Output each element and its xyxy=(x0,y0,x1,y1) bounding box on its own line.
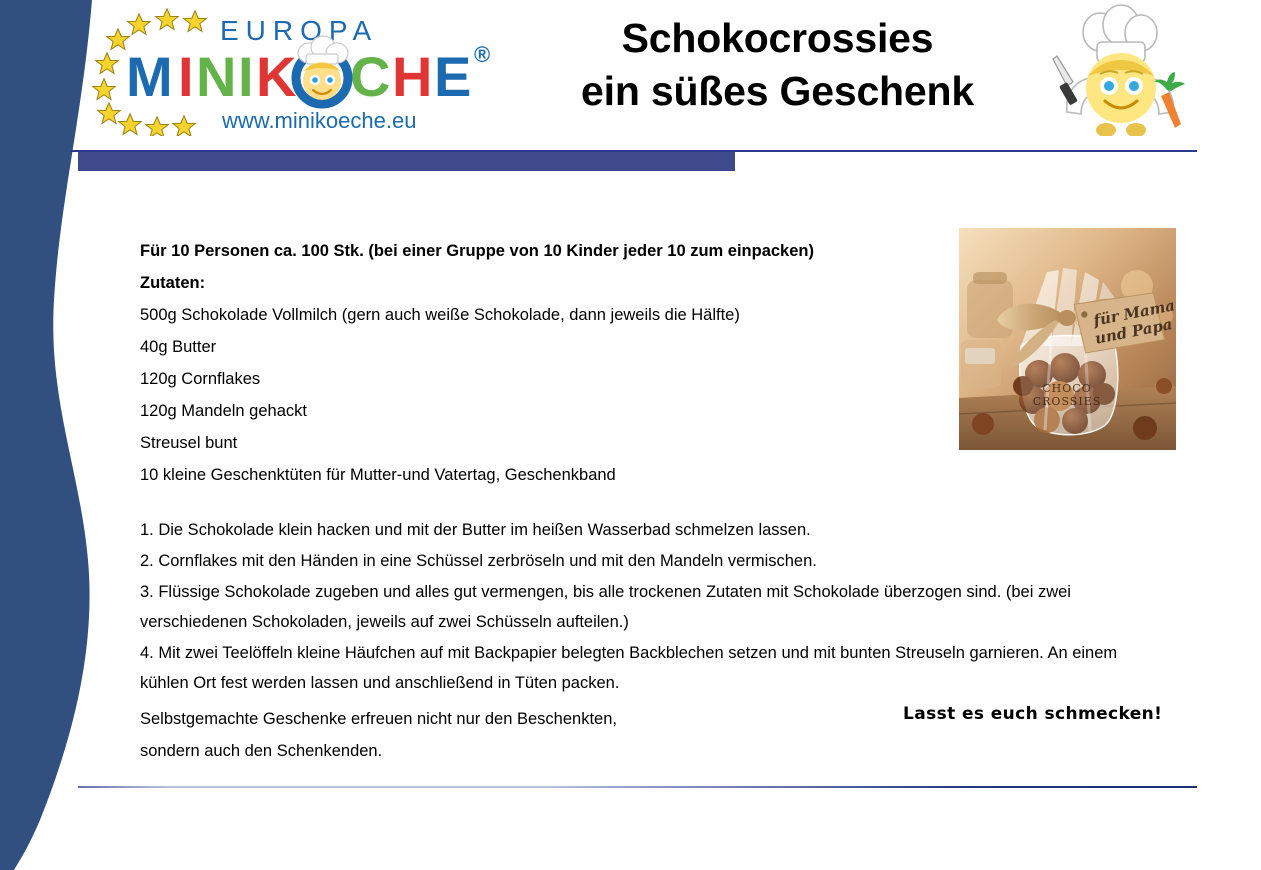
product-label-line1: CHOCO xyxy=(1042,382,1091,395)
product-label-line2: CROSSIES xyxy=(1033,395,1102,408)
logo-registered-mark: ® xyxy=(474,42,490,67)
ingredient-item: 40g Butter xyxy=(140,331,950,363)
chef-mascot-with-knife-and-carrot xyxy=(1043,4,1198,136)
ingredient-item: 500g Schokolade Vollmilch (gern auch wei… xyxy=(140,299,950,331)
svg-text:I: I xyxy=(238,45,254,108)
europa-minikoeche-logo: EUROPA M I N I K C H E xyxy=(82,8,502,136)
header-accent-bar xyxy=(78,152,735,171)
ingredients-heading: Zutaten: xyxy=(140,267,950,299)
svg-text:E: E xyxy=(434,45,471,108)
servings-note: Für 10 Personen ca. 100 Stk. (bei einer … xyxy=(140,235,950,267)
svg-text:I: I xyxy=(178,45,194,108)
recipe-page: EUROPA M I N I K C H E xyxy=(0,0,1261,870)
logo-url-text: www.minikoeche.eu xyxy=(221,108,416,133)
svg-text:H: H xyxy=(392,45,432,108)
ingredient-item: 120g Mandeln gehackt xyxy=(140,395,950,427)
page-title: Schokocrossies ein süßes Geschenk xyxy=(505,12,1050,119)
step-item: 2. Cornflakes mit den Händen in eine Sch… xyxy=(140,546,1150,576)
closing-line2: sondern auch den Schenkenden. xyxy=(140,735,760,767)
page-title-line2: ein süßes Geschenk xyxy=(505,65,1050,118)
step-item: 1. Die Schokolade klein hacken und mit d… xyxy=(140,515,1150,545)
logo-o-chef-face xyxy=(296,36,348,104)
closing-note: Selbstgemachte Geschenke erfreuen nicht … xyxy=(140,703,760,767)
svg-text:C: C xyxy=(350,45,390,108)
step-item: 4. Mit zwei Teelöffeln kleine Häufchen a… xyxy=(140,638,1150,698)
svg-text:K: K xyxy=(256,45,296,108)
svg-text:M: M xyxy=(126,45,173,108)
svg-text:N: N xyxy=(196,45,236,108)
ingredient-item: Streusel bunt xyxy=(140,427,950,459)
footer-divider-rule xyxy=(78,786,1197,788)
ingredient-item: 120g Cornflakes xyxy=(140,363,950,395)
preparation-steps: 1. Die Schokolade klein hacken und mit d… xyxy=(140,515,1150,699)
logo-europa-text: EUROPA xyxy=(220,15,378,46)
enjoy-message: Lasst es euch schmecken! xyxy=(903,704,1162,724)
choco-crossies-gift-bag-photo: für Mama und Papa CHOCO CROSSIES xyxy=(959,228,1176,450)
step-item: 3. Flüssige Schokolade zugeben und alles… xyxy=(140,577,1150,637)
closing-line1: Selbstgemachte Geschenke erfreuen nicht … xyxy=(140,703,760,735)
knife-icon xyxy=(1053,56,1078,106)
ingredients-section: Für 10 Personen ca. 100 Stk. (bei einer … xyxy=(140,235,950,491)
page-title-line1: Schokocrossies xyxy=(505,12,1050,65)
ingredient-item: 10 kleine Geschenktüten für Mutter-und V… xyxy=(140,459,950,491)
